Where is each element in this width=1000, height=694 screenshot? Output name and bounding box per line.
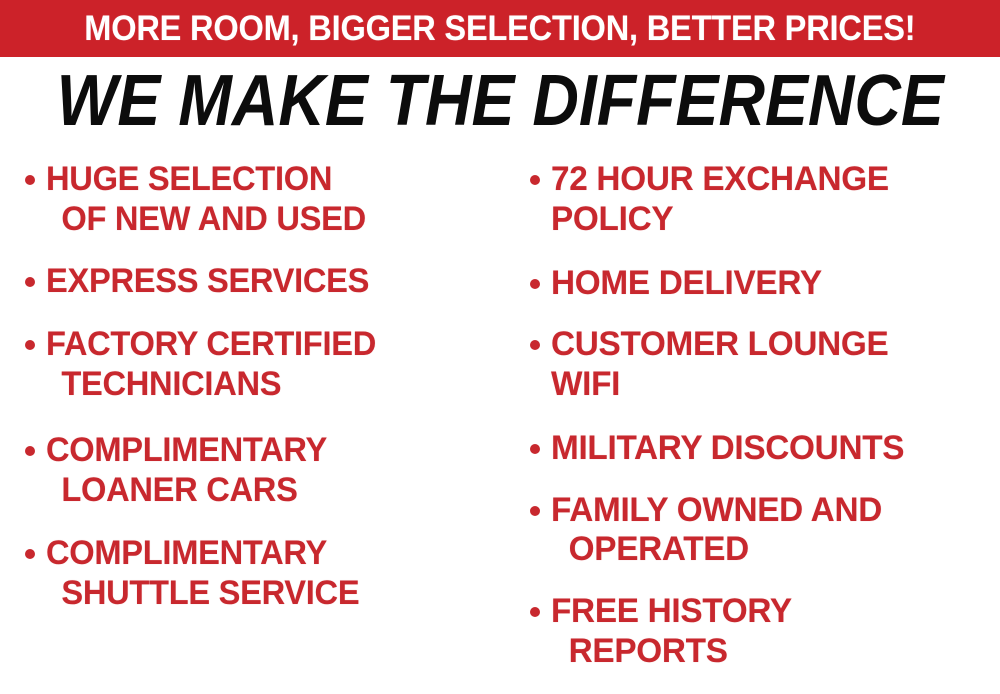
- list-item-line2: REPORTS: [551, 632, 991, 672]
- list-item-line1: EXPRESS SERVICES: [46, 262, 369, 300]
- list-item-text: FREE HISTORY REPORTS: [551, 592, 991, 672]
- list-item-line1: FAMILY OWNED AND: [551, 491, 882, 529]
- main-headline-text: WE MAKE THE DIFFERENCE: [56, 64, 943, 137]
- list-item: MILITARY DISCOUNTS: [523, 429, 1000, 469]
- list-item-line1: HOME DELIVERY: [551, 264, 822, 302]
- list-item-text: HOME DELIVERY: [551, 264, 991, 304]
- bullet-dot-icon: [530, 506, 540, 516]
- list-item-text: FACTORY CERTIFIED TECHNICIANS: [46, 325, 481, 405]
- bullet-dot-icon: [25, 277, 35, 287]
- bullet-dot-icon: [25, 340, 35, 350]
- bullet-dot-icon: [25, 446, 35, 456]
- list-item-line1: FACTORY CERTIFIED: [46, 325, 376, 363]
- list-item-line1: 72 HOUR EXCHANGE: [551, 160, 889, 198]
- benefits-columns: HUGE SELECTION OF NEW AND USED EXPRESS S…: [0, 152, 1000, 694]
- list-item-line1: HUGE SELECTION: [46, 160, 332, 198]
- list-item-line1: MILITARY DISCOUNTS: [551, 429, 904, 467]
- list-item-text: COMPLIMENTARY LOANER CARS: [46, 431, 481, 511]
- list-item-text: HUGE SELECTION OF NEW AND USED: [46, 160, 481, 240]
- list-item: FREE HISTORY REPORTS: [523, 592, 1000, 672]
- banner-headline-text: MORE ROOM, BIGGER SELECTION, BETTER PRIC…: [84, 11, 915, 46]
- list-item-text: CUSTOMER LOUNGE WIFI: [551, 325, 991, 405]
- list-item-line1: CUSTOMER LOUNGE: [551, 325, 888, 363]
- list-item: CUSTOMER LOUNGE WIFI: [523, 325, 1000, 405]
- list-item: HOME DELIVERY: [523, 264, 1000, 304]
- bullet-dot-icon: [530, 279, 540, 289]
- list-item: FACTORY CERTIFIED TECHNICIANS: [18, 325, 499, 405]
- benefits-column-right: 72 HOUR EXCHANGE POLICY HOME DELIVERY CU…: [505, 152, 1000, 694]
- bullet-dot-icon: [530, 175, 540, 185]
- bullet-dot-icon: [530, 340, 540, 350]
- main-headline-container: WE MAKE THE DIFFERENCE: [0, 61, 1000, 139]
- list-item-line2: OPERATED: [551, 530, 991, 570]
- list-item: HUGE SELECTION OF NEW AND USED: [18, 160, 499, 240]
- list-item: COMPLIMENTARY LOANER CARS: [18, 431, 499, 511]
- top-banner: MORE ROOM, BIGGER SELECTION, BETTER PRIC…: [0, 0, 1000, 57]
- bullet-dot-icon: [25, 549, 35, 559]
- bullet-dot-icon: [530, 444, 540, 454]
- list-item: 72 HOUR EXCHANGE POLICY: [523, 160, 1000, 240]
- list-item-line2: SHUTTLE SERVICE: [46, 574, 481, 614]
- list-item-line2: TECHNICIANS: [46, 365, 481, 405]
- list-item-text: FAMILY OWNED AND OPERATED: [551, 491, 991, 571]
- list-item-text: EXPRESS SERVICES: [46, 262, 481, 302]
- list-item-line2: WIFI: [551, 365, 991, 405]
- list-item-text: COMPLIMENTARY SHUTTLE SERVICE: [46, 534, 481, 614]
- list-item-line1: COMPLIMENTARY: [46, 431, 327, 469]
- list-item: COMPLIMENTARY SHUTTLE SERVICE: [18, 534, 499, 614]
- bullet-dot-icon: [25, 175, 35, 185]
- list-item-line1: COMPLIMENTARY: [46, 534, 327, 572]
- list-item-text: MILITARY DISCOUNTS: [551, 429, 991, 469]
- list-item: FAMILY OWNED AND OPERATED: [523, 491, 1000, 571]
- list-item-line2: LOANER CARS: [46, 471, 481, 511]
- list-item-text: 72 HOUR EXCHANGE POLICY: [551, 160, 991, 240]
- list-item-line2: POLICY: [551, 200, 991, 240]
- bullet-dot-icon: [530, 607, 540, 617]
- benefits-column-left: HUGE SELECTION OF NEW AND USED EXPRESS S…: [0, 152, 505, 694]
- list-item-line2: OF NEW AND USED: [46, 200, 481, 240]
- list-item-line1: FREE HISTORY: [551, 592, 792, 630]
- list-item: EXPRESS SERVICES: [18, 262, 499, 302]
- advertisement-poster: MORE ROOM, BIGGER SELECTION, BETTER PRIC…: [0, 0, 1000, 694]
